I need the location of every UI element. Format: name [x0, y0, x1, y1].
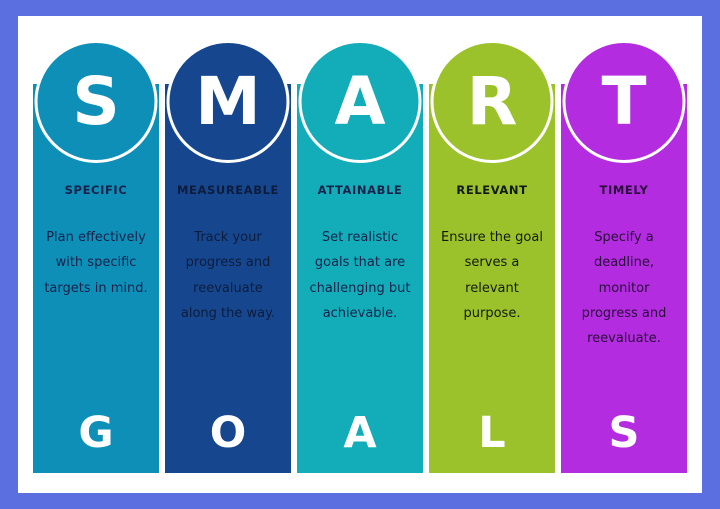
column-heading: ATTAINABLE — [318, 183, 403, 197]
smart-column-specific: SSPECIFICPlan effectively with specific … — [33, 84, 159, 473]
acronym-circle-r: R — [431, 40, 554, 163]
smart-columns: SSPECIFICPlan effectively with specific … — [33, 84, 687, 473]
column-description: Ensure the goal serves a relevant purpos… — [438, 225, 546, 326]
acronym-circle-a: A — [299, 40, 422, 163]
acronym-letter: S — [72, 69, 120, 135]
column-heading: TIMELY — [600, 183, 649, 197]
column-heading: SPECIFIC — [65, 183, 128, 197]
acronym-letter: T — [601, 69, 646, 135]
column-heading: MEASUREABLE — [177, 183, 279, 197]
goals-letter: L — [429, 412, 555, 455]
acronym-letter: M — [195, 69, 261, 135]
acronym-circle-t: T — [563, 40, 686, 163]
acronym-letter: A — [334, 69, 385, 135]
goals-letter: A — [297, 412, 423, 455]
acronym-circle-s: S — [35, 40, 158, 163]
smart-goals-poster: SSPECIFICPlan effectively with specific … — [0, 0, 720, 509]
goals-letter: O — [165, 412, 291, 455]
column-description: Set realistic goals that are challenging… — [306, 225, 414, 326]
column-description: Track your progress and reevaluate along… — [174, 225, 282, 326]
goals-letter: G — [33, 412, 159, 455]
acronym-circle-m: M — [167, 40, 290, 163]
column-description: Plan effectively with specific targets i… — [42, 225, 150, 301]
smart-column-measureable: MMEASUREABLETrack your progress and reev… — [165, 84, 291, 473]
column-heading: RELEVANT — [456, 183, 527, 197]
column-description: Specify a deadline, monitor progress and… — [570, 225, 678, 352]
goals-letter: S — [561, 412, 687, 455]
smart-column-attainable: AATTAINABLESet realistic goals that are … — [297, 84, 423, 473]
smart-column-relevant: RRELEVANTEnsure the goal serves a releva… — [429, 84, 555, 473]
acronym-letter: R — [467, 69, 518, 135]
smart-column-timely: TTIMELYSpecify a deadline, monitor progr… — [561, 84, 687, 473]
